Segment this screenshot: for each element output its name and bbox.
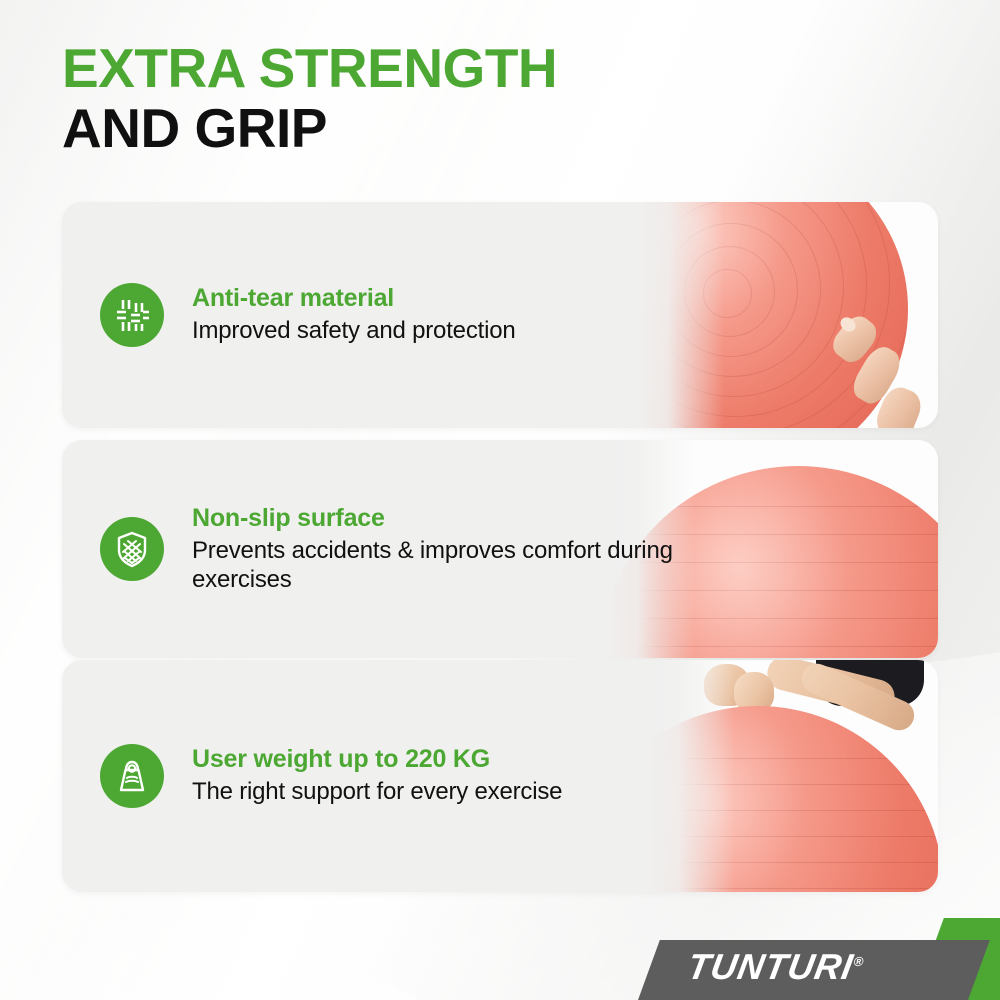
- photo-left-fade: [648, 660, 734, 892]
- logo-wordmark: TUNTURI®: [684, 946, 866, 988]
- feature-title: Anti-tear material: [192, 284, 516, 313]
- finger-pressing-ball: [834, 312, 924, 428]
- page-title-line-2: AND GRIP: [62, 100, 822, 156]
- woven-mesh-icon: [100, 283, 164, 347]
- feature-text: User weight up to 220 KG The right suppo…: [192, 745, 562, 806]
- tunturi-logo: TUNTURI®: [580, 918, 1000, 1000]
- feature-card-non-slip: Non-slip surface Prevents accidents & im…: [62, 440, 938, 658]
- infographic-page: EXTRA STRENGTH AND GRIP: [0, 0, 1000, 1000]
- page-title-line-1: EXTRA STRENGTH: [62, 40, 822, 96]
- weight-kettlebell-icon: [100, 744, 164, 808]
- page-title: EXTRA STRENGTH AND GRIP: [62, 40, 822, 156]
- feature-text: Anti-tear material Improved safety and p…: [192, 284, 516, 345]
- logo-registered-mark: ®: [853, 954, 865, 969]
- feature-card-anti-tear: Anti-tear material Improved safety and p…: [62, 202, 938, 428]
- logo-brand-name: TUNTURI: [684, 946, 856, 987]
- feature-card-body: Anti-tear material Improved safety and p…: [62, 202, 516, 428]
- feature-description: Prevents accidents & improves comfort du…: [192, 536, 692, 595]
- exercise-ball-finger-press-photo: [638, 202, 938, 428]
- feature-description: Improved safety and protection: [192, 316, 516, 345]
- feature-description: The right support for every exercise: [192, 777, 562, 806]
- feature-card-body: Non-slip surface Prevents accidents & im…: [62, 440, 692, 658]
- person-leaning-on-exercise-ball-photo: TUNTURI®: [648, 660, 938, 892]
- feature-title: User weight up to 220 KG: [192, 745, 562, 774]
- logo-gray-slab: [638, 940, 990, 1000]
- logo-green-accent: [914, 918, 1000, 1000]
- feature-text: Non-slip surface Prevents accidents & im…: [192, 504, 692, 595]
- photo-left-fade: [638, 202, 724, 428]
- feature-card-body: User weight up to 220 KG The right suppo…: [62, 660, 562, 892]
- feature-title: Non-slip surface: [192, 504, 692, 533]
- shield-grip-icon: [100, 517, 164, 581]
- feature-card-user-weight: TUNTURI® User weight up to 220 KG The ri…: [62, 660, 938, 892]
